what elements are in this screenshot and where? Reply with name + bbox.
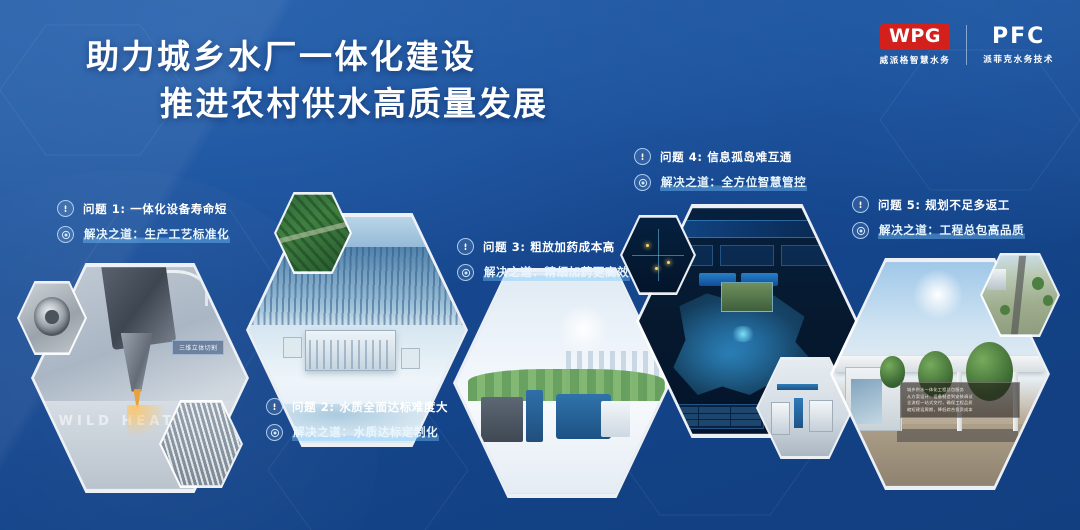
- headline-line-1: 助力城乡水厂一体化建设: [0, 34, 640, 81]
- headline-line-2-normal: 推进农村供水: [160, 84, 373, 123]
- photo-note-5: 城乡供水一体化工程总包服务 从方案设计、设备制造到安装调试 全流程一站式交付，确…: [900, 382, 1020, 418]
- label-block-3: 问题 3: 粗放加药成本高 解决之道：精细加药更高效: [457, 238, 630, 290]
- target-icon: [266, 424, 283, 441]
- problem-row-5: 问题 5: 规划不足多返工: [852, 196, 1025, 213]
- solution-row-3: 解决之道：精细加药更高效: [457, 264, 630, 281]
- problem-text-3: 问题 3: 粗放加药成本高: [483, 239, 615, 255]
- target-icon: [634, 174, 651, 191]
- exclamation-icon: [634, 148, 651, 165]
- pfc-logo: PFC 派菲克水务技术: [983, 26, 1054, 65]
- solution-row-5: 解决之道：工程总包高品质: [852, 222, 1025, 239]
- solution-text-2: 解决之道：水质达标定制化: [292, 424, 439, 441]
- solution-text-5: 解决之道：工程总包高品质: [878, 222, 1025, 239]
- wpg-logo: WPG 威派格智慧水务: [880, 24, 951, 66]
- wpg-subtitle: 威派格智慧水务: [880, 54, 951, 66]
- exclamation-icon: [266, 398, 283, 415]
- headline-line-2: 推进农村供水高质量发展: [0, 81, 640, 128]
- hex-photo-3-dosing-equipment: [455, 270, 669, 496]
- poster-canvas: WPG 威派格智慧水务 PFC 派菲克水务技术 助力城乡水厂一体化建设 推进农村…: [0, 0, 1080, 530]
- wpg-wordmark: WPG: [880, 24, 950, 50]
- problem-row-2: 问题 2: 水质全面达标难度大: [266, 398, 448, 415]
- label-block-5: 问题 5: 规划不足多返工 解决之道：工程总包高品质: [852, 196, 1025, 248]
- problem-text-4: 问题 4: 信息孤岛难互通: [660, 149, 792, 165]
- problem-row-1: 问题 1: 一体化设备寿命短: [57, 200, 230, 217]
- label-block-1: 问题 1: 一体化设备寿命短 解决之道：生产工艺标准化: [57, 200, 230, 252]
- solution-text-1: 解决之道：生产工艺标准化: [83, 226, 230, 243]
- label-block-4: 问题 4: 信息孤岛难互通 解决之道：全方位智慧管控: [634, 148, 807, 200]
- label-block-2: 问题 2: 水质全面达标难度大 解决之道：水质达标定制化: [266, 398, 448, 450]
- exclamation-icon: [457, 238, 474, 255]
- exclamation-icon: [852, 196, 869, 213]
- problem-text-1: 问题 1: 一体化设备寿命短: [83, 201, 227, 217]
- exclamation-icon: [57, 200, 74, 217]
- target-icon: [457, 264, 474, 281]
- solution-text-3: 解决之道：精细加药更高效: [483, 264, 630, 281]
- logo-divider: [966, 25, 967, 65]
- target-icon: [852, 222, 869, 239]
- problem-row-3: 问题 3: 粗放加药成本高: [457, 238, 630, 255]
- problem-text-2: 问题 2: 水质全面达标难度大: [292, 399, 448, 415]
- problem-text-5: 问题 5: 规划不足多返工: [878, 197, 1010, 213]
- solution-row-2: 解决之道：水质达标定制化: [266, 424, 448, 441]
- solution-text-4: 解决之道：全方位智慧管控: [660, 174, 807, 191]
- problem-row-4: 问题 4: 信息孤岛难互通: [634, 148, 807, 165]
- solution-row-1: 解决之道：生产工艺标准化: [57, 226, 230, 243]
- target-icon: [57, 226, 74, 243]
- headline-block: 助力城乡水厂一体化建设 推进农村供水高质量发展: [0, 34, 640, 128]
- solution-row-4: 解决之道：全方位智慧管控: [634, 174, 807, 191]
- brand-logo-bar: WPG 威派格智慧水务 PFC 派菲克水务技术: [880, 24, 1054, 66]
- pfc-wordmark: PFC: [992, 26, 1045, 48]
- headline-line-2-emphasis: 高质量发展: [373, 84, 548, 123]
- photo-caption-1: 三维立体切割: [172, 340, 224, 355]
- pfc-subtitle: 派菲克水务技术: [983, 53, 1054, 65]
